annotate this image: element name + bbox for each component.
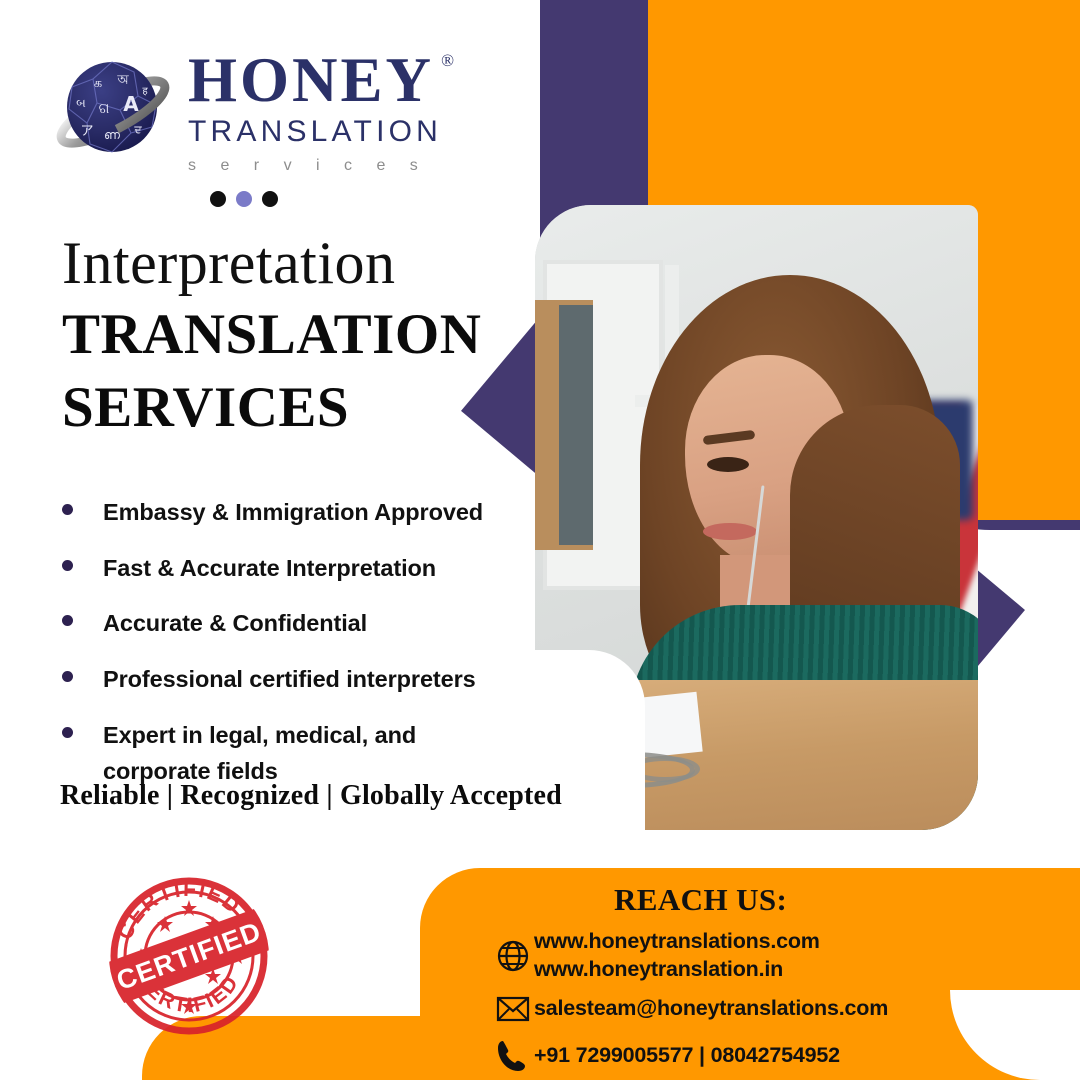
phone-text[interactable]: +91 7299005577 | 08042754952 (534, 1042, 840, 1070)
website-primary[interactable]: www.honeytranslations.com (534, 928, 820, 956)
email-text[interactable]: salesteam@honeytranslations.com (534, 995, 888, 1023)
svg-text:க: க (94, 76, 102, 91)
registered-trademark-icon: ® (441, 53, 454, 69)
feature-list: Embassy & Immigration Approved Fast & Ac… (56, 495, 556, 809)
dot-3 (262, 191, 278, 207)
list-item: Accurate & Confidential (56, 606, 556, 642)
svg-text:બ: બ (76, 96, 86, 110)
brand-logo: க অ ह બ ଗ A ア ണ ਦ HONEY ® TRANSLATION s … (52, 40, 472, 180)
dot-2 (236, 191, 252, 207)
feature-text: Embassy & Immigration Approved (103, 495, 483, 531)
list-item: Embassy & Immigration Approved (56, 495, 556, 531)
logo-primary-name: HONEY ® (188, 51, 434, 111)
website-text[interactable]: www.honeytranslations.com www.honeytrans… (534, 928, 820, 983)
logo-wordmark: HONEY ® TRANSLATION s e r v i c e s (188, 45, 442, 174)
bullet-dot-icon (62, 615, 73, 626)
contact-row-phone[interactable]: +91 7299005577 | 08042754952 (492, 1038, 888, 1074)
globe-icon (492, 939, 534, 973)
bullet-dot-icon (62, 671, 73, 682)
contact-details: www.honeytranslations.com www.honeytrans… (492, 928, 888, 1085)
svg-text:ア: ア (80, 124, 93, 139)
contact-row-website[interactable]: www.honeytranslations.com www.honeytrans… (492, 928, 888, 983)
logo-primary-text: HONEY (188, 45, 434, 115)
logo-tertiary-name: s e r v i c e s (188, 157, 442, 175)
headline-bold-line-1: TRANSLATION (62, 301, 481, 368)
photo-shelf-dark (559, 305, 593, 545)
feature-text: Professional certified interpreters (103, 662, 476, 698)
contact-heading: REACH US: (614, 882, 787, 918)
envelope-icon (492, 994, 534, 1024)
svg-text:ਦ: ਦ (133, 123, 142, 136)
website-secondary[interactable]: www.honeytranslation.in (534, 956, 820, 984)
feature-text: Expert in legal, medical, and corporate … (103, 718, 463, 789)
page-title: Interpretation TRANSLATION SERVICES (62, 232, 481, 442)
phone-icon (492, 1038, 534, 1074)
bullet-dot-icon (62, 560, 73, 571)
tagline: Reliable | Recognized | Globally Accepte… (60, 780, 562, 812)
globe-logo-icon: க অ ह બ ଗ A ア ണ ਦ (52, 49, 174, 171)
svg-text:ह: ह (142, 86, 148, 97)
headline-script-line: Interpretation (62, 232, 481, 295)
photo-lips (703, 523, 757, 540)
bullet-dot-icon (62, 727, 73, 738)
svg-text:ଗ: ଗ (99, 101, 110, 117)
decorative-dots (210, 191, 278, 207)
dot-1 (210, 191, 226, 207)
contact-row-email[interactable]: salesteam@honeytranslations.com (492, 994, 888, 1024)
svg-text:অ: অ (116, 73, 129, 88)
list-item: Fast & Accurate Interpretation (56, 551, 556, 587)
logo-secondary-name: TRANSLATION (188, 113, 442, 151)
list-item: Professional certified interpreters (56, 662, 556, 698)
feature-text: Fast & Accurate Interpretation (103, 551, 436, 587)
feature-text: Accurate & Confidential (103, 606, 367, 642)
photo-eye (707, 457, 749, 472)
certified-stamp-icon: CERTIFIED CERTIFIED CERTIFIED (105, 872, 273, 1040)
headline-bold-line-2: SERVICES (62, 374, 481, 441)
list-item: Expert in legal, medical, and corporate … (56, 718, 556, 789)
bullet-dot-icon (62, 504, 73, 515)
